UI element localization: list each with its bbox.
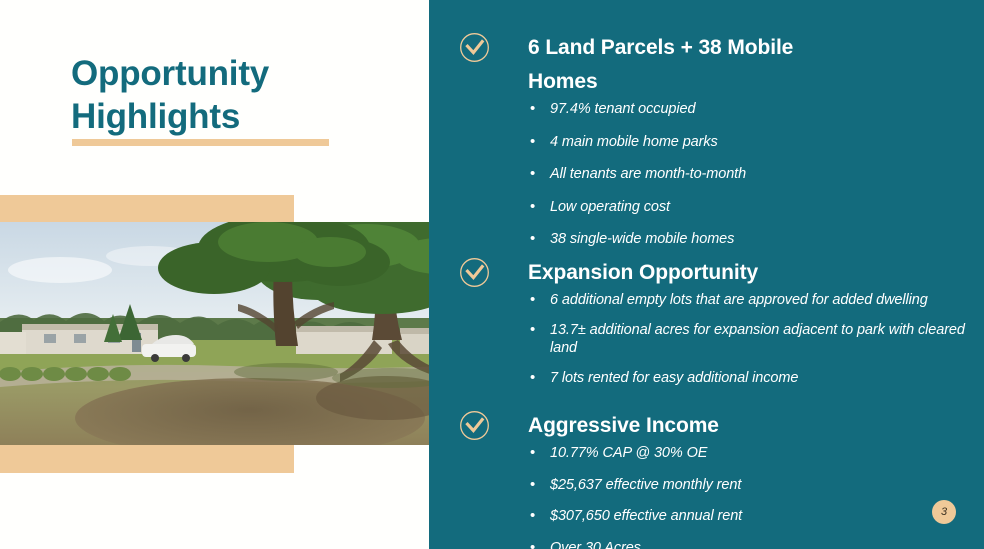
page-title-line-1: Opportunity <box>71 52 401 95</box>
list-item: 6 additional empty lots that are approve… <box>528 291 968 310</box>
section-expansion-opportunity: Expansion Opportunity 6 additional empty… <box>528 256 968 398</box>
page-title-line-2: Highlights <box>71 95 401 138</box>
section-bullet-list: 97.4% tenant occupied 4 main mobile home… <box>528 100 968 249</box>
list-item: All tenants are month-to-month <box>528 165 968 184</box>
page-number-badge: 3 <box>932 500 956 524</box>
list-item: 97.4% tenant occupied <box>528 100 968 119</box>
page-title: Opportunity Highlights <box>71 52 401 138</box>
section-heading: Aggressive Income <box>528 409 968 443</box>
list-item: 4 main mobile home parks <box>528 133 968 152</box>
section-heading: Expansion Opportunity <box>528 256 968 290</box>
circle-check-icon <box>459 410 490 441</box>
title-underline-rule <box>72 139 329 146</box>
section-aggressive-income: Aggressive Income 10.77% CAP @ 30% OE $2… <box>528 409 968 549</box>
section-bullet-list: 10.77% CAP @ 30% OE $25,637 effective mo… <box>528 444 968 549</box>
right-teal-panel: 6 Land Parcels + 38 Mobile Homes 97.4% t… <box>429 0 984 549</box>
list-item: $25,637 effective monthly rent <box>528 476 968 495</box>
list-item: 10.77% CAP @ 30% OE <box>528 444 968 463</box>
list-item: Over 30 Acres <box>528 539 968 549</box>
section-heading: 6 Land Parcels + 38 Mobile Homes <box>528 31 828 99</box>
list-item: Low operating cost <box>528 198 968 217</box>
presentation-slide: Opportunity Highlights <box>0 0 984 549</box>
list-item: 7 lots rented for easy additional income <box>528 369 968 388</box>
circle-check-icon <box>459 257 490 288</box>
list-item: 38 single-wide mobile homes <box>528 230 968 249</box>
property-photo <box>0 222 490 445</box>
circle-check-icon <box>459 32 490 63</box>
section-bullet-list: 6 additional empty lots that are approve… <box>528 291 968 387</box>
list-item: 13.7± additional acres for expansion adj… <box>528 321 968 358</box>
list-item: $307,650 effective annual rent <box>528 507 968 526</box>
section-land-parcels: 6 Land Parcels + 38 Mobile Homes 97.4% t… <box>528 31 968 249</box>
